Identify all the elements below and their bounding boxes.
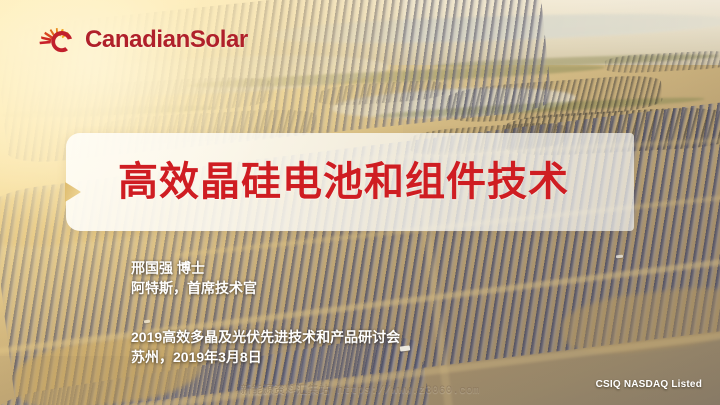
canadian-solar-logo: CanadianSolar xyxy=(38,24,248,56)
banner-notch-icon xyxy=(65,182,81,202)
speaker-block: 邢国强 博士 阿特斯，首席技术官 xyxy=(131,258,257,299)
speaker-name: 邢国强 博士 xyxy=(131,258,257,278)
event-block: 2019高效多晶及光伏先进技术和产品研讨会 苏州，2019年3月8日 xyxy=(131,327,400,368)
sunburst-icon xyxy=(38,24,76,56)
footer-listing-note: CSIQ NASDAQ Listed xyxy=(596,379,702,390)
page-title: 高效晶硅电池和组件技术 xyxy=(118,162,569,202)
logo-wordmark: CanadianSolar xyxy=(85,28,248,52)
presentation-slide: CanadianSolar 高效晶硅电池和组件技术 邢国强 博士 阿特斯，首席技… xyxy=(0,0,720,405)
event-name: 2019高效多晶及光伏先进技术和产品研讨会 xyxy=(131,327,400,347)
title-banner: 高效晶硅电池和组件技术 xyxy=(66,133,634,231)
service-building xyxy=(144,320,150,324)
speaker-role: 阿特斯，首席技术官 xyxy=(131,278,257,298)
event-place-date: 苏州，2019年3月8日 xyxy=(131,347,400,367)
